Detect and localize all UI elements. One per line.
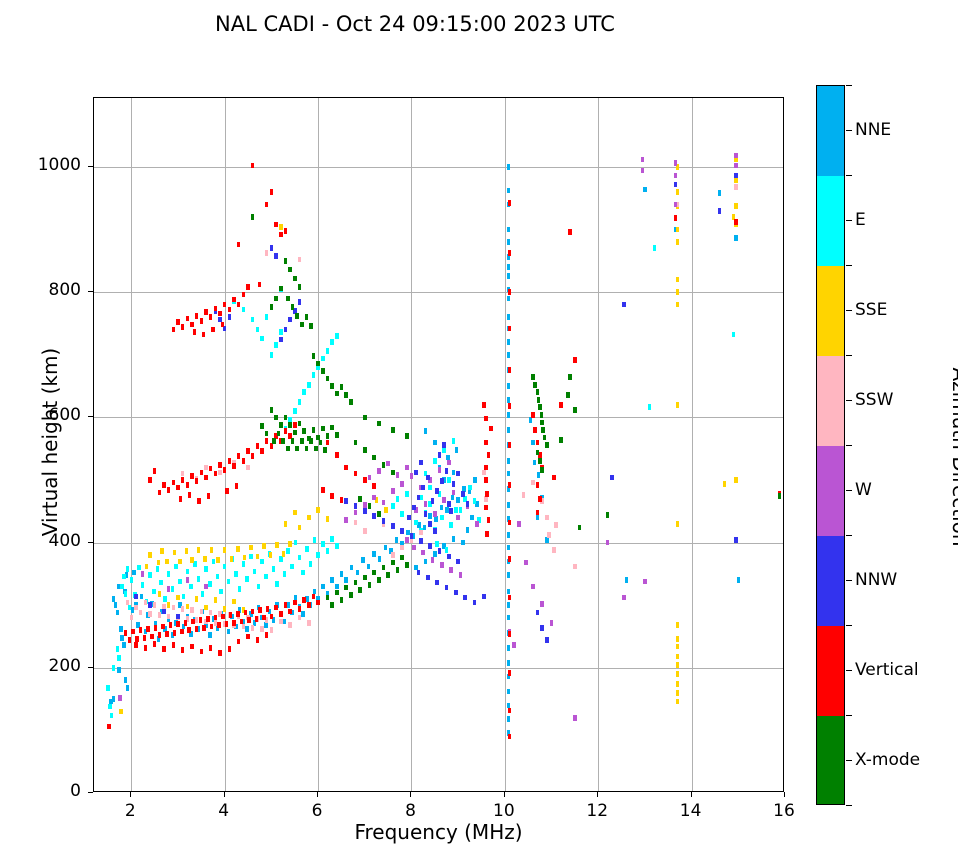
data-point	[279, 556, 283, 562]
data-point	[368, 503, 372, 509]
data-point	[167, 614, 171, 620]
data-point	[438, 467, 442, 473]
data-point	[298, 421, 302, 427]
data-point	[372, 513, 376, 519]
data-point	[284, 602, 288, 608]
data-point	[507, 339, 511, 345]
data-point	[143, 635, 147, 641]
y-tick	[88, 667, 93, 668]
data-point	[260, 559, 264, 565]
data-point	[463, 595, 467, 601]
x-tick-label: 6	[287, 801, 347, 821]
data-point	[258, 607, 262, 613]
data-point	[438, 452, 442, 458]
data-point	[167, 571, 171, 577]
data-point	[641, 157, 645, 163]
data-point	[468, 485, 472, 491]
data-point	[536, 482, 540, 488]
data-point	[207, 493, 211, 499]
data-point	[507, 227, 511, 233]
data-point	[482, 594, 486, 600]
data-point	[200, 609, 204, 615]
data-point	[508, 708, 512, 714]
data-point	[153, 641, 157, 647]
data-point	[423, 525, 427, 531]
data-point	[507, 458, 511, 464]
colorbar-label-x-mode: X-mode	[855, 750, 920, 770]
data-point	[340, 497, 344, 503]
data-point	[216, 574, 220, 580]
data-point	[323, 447, 327, 453]
data-point	[382, 462, 386, 468]
data-point	[223, 547, 227, 553]
data-point	[330, 339, 334, 345]
data-point	[676, 644, 680, 650]
data-point	[447, 460, 451, 466]
data-point	[538, 404, 542, 410]
data-point	[540, 420, 544, 426]
data-point	[405, 433, 409, 439]
data-point	[216, 557, 220, 563]
data-point	[550, 620, 554, 626]
data-point	[212, 559, 216, 565]
data-point	[470, 515, 474, 521]
data-point	[485, 491, 489, 497]
data-point	[484, 496, 488, 502]
data-point	[414, 520, 418, 526]
data-point	[405, 562, 409, 568]
data-point	[484, 465, 488, 471]
data-point	[454, 590, 458, 596]
data-point	[302, 597, 306, 603]
data-point	[734, 537, 738, 543]
data-point	[676, 699, 680, 705]
data-point	[242, 307, 246, 313]
data-point	[718, 208, 722, 214]
data-point	[242, 624, 246, 630]
data-point	[298, 555, 302, 561]
data-point	[274, 342, 278, 348]
data-point	[139, 627, 143, 633]
data-point	[162, 482, 166, 488]
data-point	[218, 311, 222, 317]
data-point	[354, 580, 358, 586]
data-point	[354, 503, 358, 509]
data-point	[737, 577, 741, 583]
data-point	[236, 611, 240, 617]
data-point	[449, 508, 453, 514]
data-point	[309, 438, 313, 444]
data-point	[350, 565, 354, 571]
data-point	[507, 502, 511, 508]
x-tick-label: 2	[100, 801, 160, 821]
data-point	[141, 571, 145, 577]
data-point	[117, 667, 121, 673]
y-tick	[88, 166, 93, 167]
data-point	[305, 314, 309, 320]
data-point	[223, 302, 227, 308]
data-point	[734, 178, 738, 184]
data-point	[674, 160, 678, 166]
y-tick	[88, 416, 93, 417]
data-point	[284, 521, 288, 527]
colorbar-segment-nne	[817, 86, 844, 176]
data-point	[421, 485, 425, 491]
data-point	[396, 472, 400, 478]
data-point	[433, 551, 437, 557]
data-layer	[94, 98, 783, 791]
colorbar-boundary-tick	[846, 715, 852, 716]
data-point	[246, 448, 250, 454]
data-point	[507, 572, 511, 578]
data-point	[312, 594, 316, 600]
data-point	[107, 724, 111, 730]
data-point	[240, 619, 244, 625]
data-point	[391, 488, 395, 494]
data-point	[288, 422, 292, 428]
data-point	[391, 523, 395, 529]
data-point	[272, 566, 276, 572]
x-tick-label: 14	[661, 801, 721, 821]
data-point	[361, 557, 365, 563]
colorbar-tick	[846, 760, 852, 761]
data-point	[265, 202, 269, 208]
data-point	[475, 521, 479, 527]
data-point	[507, 314, 511, 320]
data-point	[536, 450, 540, 456]
data-point	[199, 617, 203, 623]
x-tick-label: 4	[194, 801, 254, 821]
data-point	[246, 284, 250, 290]
colorbar-tick	[846, 670, 852, 671]
data-point	[274, 415, 278, 421]
data-point	[214, 615, 218, 621]
data-point	[508, 403, 512, 409]
data-point	[568, 229, 572, 235]
data-point	[307, 602, 311, 608]
x-tick	[224, 792, 225, 797]
data-point	[128, 637, 132, 643]
data-point	[208, 581, 212, 587]
data-point	[265, 632, 269, 638]
data-point	[314, 446, 318, 452]
data-point	[421, 550, 425, 556]
y-axis-label: Virtual height (km)	[38, 92, 62, 792]
data-point	[274, 222, 278, 228]
data-point	[545, 515, 549, 521]
data-point	[434, 516, 438, 522]
colorbar-segment-nnw	[817, 536, 844, 626]
data-point	[228, 646, 232, 652]
data-point	[507, 589, 511, 595]
data-point	[119, 709, 123, 715]
data-point	[440, 515, 444, 521]
data-point	[522, 492, 526, 498]
data-point	[190, 644, 194, 650]
data-point	[391, 560, 395, 566]
data-point	[209, 314, 213, 320]
x-tick	[597, 792, 598, 797]
colorbar-tick	[846, 400, 852, 401]
data-point	[176, 621, 180, 627]
data-point	[114, 602, 118, 608]
data-point	[734, 173, 738, 179]
colorbar-boundary-tick	[846, 85, 852, 86]
data-point	[368, 582, 372, 588]
data-point	[344, 577, 348, 583]
data-point	[140, 594, 144, 600]
data-point	[246, 634, 250, 640]
data-point	[335, 452, 339, 458]
data-point	[554, 522, 558, 528]
data-point	[452, 536, 456, 542]
data-point	[316, 361, 320, 367]
data-point	[395, 537, 399, 543]
data-point	[305, 446, 309, 452]
data-point	[232, 297, 236, 303]
data-point	[533, 427, 537, 433]
data-point	[545, 537, 549, 543]
data-point	[283, 619, 287, 625]
data-point	[676, 662, 680, 668]
data-point	[172, 327, 176, 333]
data-point	[440, 478, 444, 484]
data-point	[173, 550, 177, 556]
data-point	[648, 404, 652, 410]
data-point	[208, 632, 212, 638]
data-point	[573, 407, 577, 413]
data-point	[146, 626, 150, 632]
data-point	[507, 660, 511, 666]
data-point	[307, 620, 311, 626]
data-point	[641, 168, 645, 174]
data-point	[372, 551, 376, 557]
data-point	[424, 428, 428, 434]
data-point	[116, 610, 120, 616]
data-point	[302, 389, 306, 395]
data-point	[218, 470, 222, 476]
data-point	[229, 612, 233, 618]
data-point	[321, 584, 325, 590]
data-point	[307, 515, 311, 521]
data-point	[358, 496, 362, 502]
data-point	[191, 619, 195, 625]
data-point	[445, 585, 449, 591]
data-point	[251, 609, 255, 615]
data-point	[284, 258, 288, 264]
data-point	[435, 541, 439, 547]
data-point	[257, 584, 261, 590]
data-point	[209, 610, 213, 616]
data-point	[367, 564, 371, 570]
colorbar-label-sse: SSE	[855, 300, 887, 320]
data-point	[186, 604, 190, 610]
data-point	[508, 367, 512, 373]
data-point	[270, 627, 274, 633]
data-point	[251, 625, 255, 631]
data-point	[171, 586, 175, 592]
data-point	[204, 475, 208, 481]
data-point	[377, 421, 381, 427]
data-point	[507, 383, 511, 389]
data-point	[283, 571, 287, 577]
data-point	[312, 353, 316, 359]
data-point	[326, 348, 330, 354]
data-point	[176, 485, 180, 491]
data-point	[507, 352, 511, 358]
data-point	[573, 564, 577, 570]
data-point	[440, 505, 444, 511]
data-point	[349, 399, 353, 405]
data-point	[134, 642, 138, 648]
data-point	[286, 446, 290, 452]
data-point	[531, 412, 535, 418]
data-point	[272, 438, 276, 444]
data-point	[537, 472, 541, 478]
data-point	[110, 713, 114, 719]
data-point	[433, 528, 437, 534]
data-point	[482, 470, 486, 476]
data-point	[391, 427, 395, 433]
data-point	[363, 477, 367, 483]
data-point	[547, 532, 551, 538]
data-point	[190, 473, 194, 479]
data-point	[363, 447, 367, 453]
colorbar-label-ssw: SSW	[855, 390, 893, 410]
data-point	[106, 685, 110, 691]
data-point	[449, 567, 453, 573]
colorbar-boundary-tick	[846, 805, 852, 806]
data-point	[266, 606, 270, 612]
data-point	[610, 475, 614, 481]
data-point	[396, 496, 400, 502]
data-point	[372, 495, 376, 501]
data-point	[578, 525, 582, 531]
data-point	[508, 250, 512, 256]
data-point	[264, 622, 268, 628]
data-point	[237, 639, 241, 645]
data-point	[447, 501, 451, 507]
data-point	[295, 313, 299, 319]
data-point	[559, 402, 563, 408]
data-point	[158, 632, 162, 638]
data-point	[294, 540, 298, 546]
data-point	[232, 620, 236, 626]
colorbar-segment-ssw	[817, 356, 844, 446]
data-point	[181, 647, 185, 653]
data-point	[256, 554, 260, 560]
data-point	[197, 498, 201, 504]
data-point	[204, 605, 208, 611]
data-point	[440, 562, 444, 568]
data-point	[228, 314, 232, 320]
data-point	[211, 327, 215, 333]
data-point	[167, 586, 171, 592]
data-point	[344, 517, 348, 523]
data-point	[321, 368, 325, 374]
data-point	[204, 584, 208, 590]
data-point	[158, 612, 162, 618]
data-point	[431, 557, 435, 563]
data-point	[435, 580, 439, 586]
data-point	[363, 502, 367, 508]
data-point	[424, 559, 428, 565]
data-point	[190, 557, 194, 563]
data-point	[489, 426, 493, 432]
data-point	[517, 521, 521, 527]
data-point	[340, 384, 344, 390]
data-point	[238, 586, 242, 592]
data-point	[154, 625, 158, 631]
data-point	[176, 319, 180, 325]
data-point	[167, 487, 171, 493]
data-point	[223, 467, 227, 473]
ionogram-figure: NAL CADI - Oct 24 09:15:00 2023 UTC 2468…	[0, 0, 958, 857]
data-point	[540, 625, 544, 631]
data-point	[144, 600, 148, 606]
data-point	[321, 487, 325, 493]
data-point	[190, 322, 194, 328]
data-point	[377, 577, 381, 583]
data-point	[186, 482, 190, 488]
data-point	[718, 190, 722, 196]
data-point	[152, 589, 156, 595]
data-point	[507, 471, 511, 477]
data-point	[447, 477, 451, 483]
data-point	[221, 614, 225, 620]
data-point	[193, 329, 197, 335]
data-point	[538, 496, 542, 502]
data-point	[382, 565, 386, 571]
x-tick	[317, 792, 318, 797]
data-point	[625, 577, 629, 583]
data-point	[260, 626, 264, 632]
data-point	[227, 579, 231, 585]
data-point	[507, 427, 511, 433]
data-point	[139, 610, 143, 616]
data-point	[243, 555, 247, 561]
data-point	[536, 389, 540, 395]
data-point	[293, 510, 297, 516]
colorbar-boundary-tick	[846, 355, 852, 356]
data-point	[445, 547, 449, 553]
data-point	[386, 461, 390, 467]
data-point	[200, 470, 204, 476]
data-point	[426, 575, 430, 581]
data-point	[178, 579, 182, 585]
data-point	[134, 594, 138, 600]
data-point	[116, 646, 120, 652]
data-point	[676, 690, 680, 696]
data-point	[165, 559, 169, 565]
data-point	[538, 458, 542, 464]
data-point	[181, 606, 185, 612]
x-tick	[130, 792, 131, 797]
data-point	[545, 637, 549, 643]
data-point	[344, 465, 348, 471]
data-point	[537, 397, 541, 403]
colorbar-segment-sse	[817, 266, 844, 356]
data-point	[275, 581, 279, 587]
data-point	[122, 642, 126, 648]
data-point	[508, 670, 512, 676]
data-point	[326, 548, 330, 554]
data-point	[372, 455, 376, 461]
data-point	[286, 296, 290, 302]
data-point	[161, 624, 165, 630]
data-point	[309, 323, 313, 329]
data-point	[734, 163, 738, 169]
